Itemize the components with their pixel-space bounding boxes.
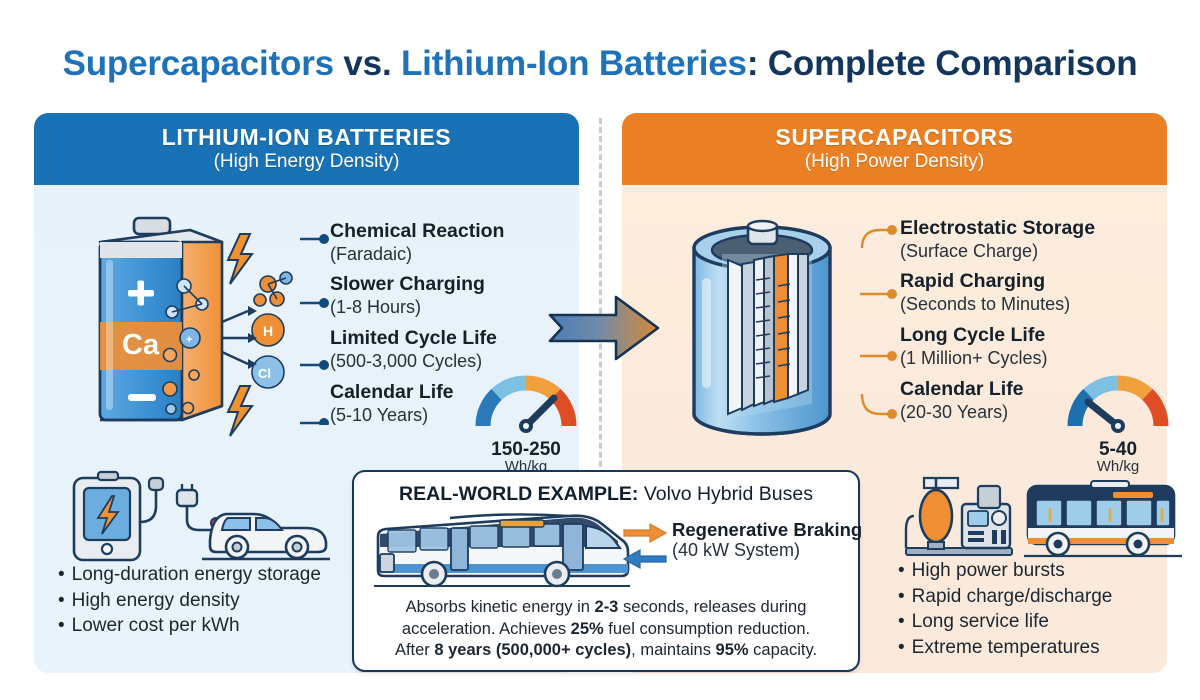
hybrid-bus-illustration (372, 508, 634, 597)
list-item: High power bursts (898, 558, 1112, 584)
blue-arrow-left-icon (624, 550, 666, 568)
feature-heading: Slower Charging (330, 274, 570, 296)
list-item: Long service life (898, 609, 1112, 635)
feature-item: Long Cycle Life (1 Million+ Cycles) (900, 325, 1150, 368)
feature-sub: (1-8 Hours) (330, 297, 570, 317)
svg-text:+: + (186, 334, 192, 346)
benefits-list-supercapacitors: High power bursts Rapid charge/discharge… (898, 558, 1112, 660)
real-world-example-box: REAL-WORLD EXAMPLE: Volvo Hybrid Buses (352, 470, 860, 672)
title-part-complete-comparison: : Complete Comparison (747, 44, 1138, 83)
title-part-supercapacitors: Supercapacitors (63, 44, 334, 83)
feature-item: Rapid Charging (Seconds to Minutes) (900, 271, 1150, 314)
header-lithium-ion: LITHIUM-ION BATTERIES (High Energy Densi… (34, 113, 579, 185)
text-fragment: seconds, releases during (618, 598, 806, 616)
supercapacitor-application-icons (900, 468, 1185, 565)
feature-sub: (Surface Charge) (900, 241, 1150, 261)
lithium-ion-battery-illustration: Ca + (72, 212, 322, 462)
feature-sub: (Faradaic) (330, 244, 570, 264)
list-item: Lower cost per kWh (58, 613, 321, 639)
infographic-canvas: Supercapacitors vs. Lithium-Ion Batterie… (0, 0, 1200, 700)
feature-heading: Electrostatic Storage (900, 218, 1150, 240)
svg-text:Cl: Cl (258, 366, 271, 381)
list-item: Extreme temperatures (898, 635, 1112, 661)
list-item: High energy density (58, 588, 321, 614)
example-description-line-2: acceleration. Achieves 25% fuel consumpt… (364, 619, 848, 641)
svg-text:H: H (263, 323, 273, 339)
feature-item: Limited Cycle Life (500-3,000 Cycles) (330, 328, 570, 371)
header-supercapacitors: SUPERCAPACITORS (High Power Density) (622, 113, 1167, 185)
list-item: Long-duration energy storage (58, 562, 321, 588)
feature-item: Electrostatic Storage (Surface Charge) (900, 218, 1150, 261)
feature-sub: (Seconds to Minutes) (900, 294, 1150, 314)
text-fragment-bold: 8 years (500,000+ cycles) (434, 641, 631, 659)
feature-heading: Limited Cycle Life (330, 328, 570, 350)
example-callout-sub: (40 kW System) (672, 540, 862, 561)
feature-item: Chemical Reaction (Faradaic) (330, 221, 570, 264)
example-description: Absorbs kinetic energy in 2-3 seconds, r… (364, 597, 848, 662)
text-fragment: capacity. (749, 641, 817, 659)
feature-sub: (1 Million+ Cycles) (900, 348, 1150, 368)
feature-heading: Chemical Reaction (330, 221, 570, 243)
header-supercapacitors-title: SUPERCAPACITORS (775, 125, 1013, 149)
text-fragment: acceleration. Achieves (402, 620, 571, 638)
gauge-value: 150-250 (470, 440, 582, 459)
feature-item: Slower Charging (1-8 Hours) (330, 274, 570, 317)
page-title: Supercapacitors vs. Lithium-Ion Batterie… (0, 44, 1200, 84)
gauge-value: 5-40 (1062, 440, 1174, 459)
supercapacitor-illustration (672, 208, 892, 463)
gauge-energy-density-lithium-ion: 150-250 Wh/kg (470, 372, 582, 475)
feature-sub: (500-3,000 Cycles) (330, 351, 570, 371)
energy-flow-arrows (622, 522, 668, 575)
example-description-line-1: Absorbs kinetic energy in 2-3 seconds, r… (364, 597, 848, 619)
example-callout: Regenerative Braking (40 kW System) (672, 520, 862, 561)
feature-heading: Rapid Charging (900, 271, 1150, 293)
text-fragment: Absorbs kinetic energy in (406, 598, 595, 616)
example-title-value: Volvo Hybrid Buses (638, 483, 813, 505)
gauge-energy-density-supercapacitors: 5-40 Wh/kg (1062, 372, 1174, 475)
text-fragment: After (395, 641, 434, 659)
title-part-lithium-ion: Lithium-Ion Batteries (401, 44, 747, 83)
gauge-dial-icon (1062, 372, 1174, 434)
electric-car-plug-icon (177, 484, 330, 559)
text-fragment: fuel consumption reduction. (604, 620, 810, 638)
header-supercapacitors-subtitle: (High Power Density) (805, 151, 985, 173)
feature-heading: Long Cycle Life (900, 325, 1150, 347)
benefits-list-lithium-ion: Long-duration energy storage High energy… (58, 562, 321, 639)
header-lithium-ion-title: LITHIUM-ION BATTERIES (162, 125, 451, 149)
gauge-dial-icon (470, 372, 582, 434)
text-fragment: , maintains (631, 641, 715, 659)
battery-pack-charging-icon (74, 472, 163, 560)
text-fragment-bold: 25% (571, 620, 604, 638)
example-title: REAL-WORLD EXAMPLE: Volvo Hybrid Buses (354, 483, 858, 506)
text-fragment-bold: 2-3 (595, 598, 619, 616)
lithium-ion-application-icons (60, 470, 340, 570)
text-fragment-bold: 95% (716, 641, 749, 659)
orange-arrow-right-icon (624, 524, 666, 542)
example-title-label: REAL-WORLD EXAMPLE: (399, 483, 638, 505)
title-part-vs: vs. (334, 44, 401, 83)
example-description-line-3: After 8 years (500,000+ cycles), maintai… (364, 640, 848, 662)
city-bus-icon (1024, 481, 1182, 556)
industrial-equipment-icon (906, 478, 1012, 555)
header-lithium-ion-subtitle: (High Energy Density) (214, 151, 400, 173)
list-item: Rapid charge/discharge (898, 584, 1112, 610)
svg-text:Ca: Ca (122, 329, 160, 361)
example-callout-heading: Regenerative Braking (672, 520, 862, 540)
